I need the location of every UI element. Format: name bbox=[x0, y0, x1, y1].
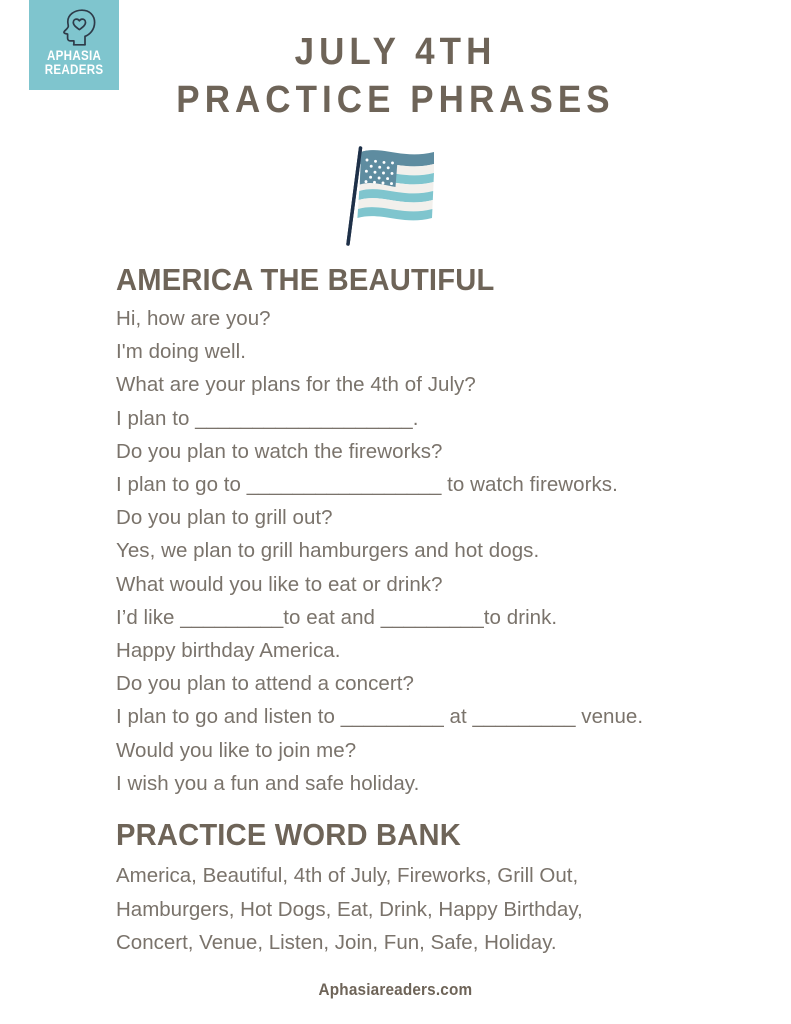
footer: Aphasiareaders.com bbox=[0, 980, 791, 1000]
word-bank-list: America, Beautiful, 4th of July, Firewor… bbox=[116, 859, 756, 960]
phrase-line: I’d like _________to eat and _________to… bbox=[116, 601, 756, 634]
practice-phrase-list: Hi, how are you? I'm doing well. What ar… bbox=[116, 302, 756, 800]
phrase-line: Would you like to join me? bbox=[116, 734, 756, 767]
phrase-line: Happy birthday America. bbox=[116, 634, 756, 667]
worksheet-content: AMERICA THE BEAUTIFUL Hi, how are you? I… bbox=[116, 262, 756, 960]
phrase-line: Do you plan to attend a concert? bbox=[116, 667, 756, 700]
page-title-line-1: JULY 4TH bbox=[32, 28, 760, 76]
phrase-line: I plan to go to _________________ to wat… bbox=[116, 468, 756, 501]
phrase-line: I wish you a fun and safe holiday. bbox=[116, 767, 756, 800]
phrase-line: Do you plan to watch the fireworks? bbox=[116, 435, 756, 468]
american-flag-icon bbox=[330, 140, 450, 250]
phrase-line: I plan to ___________________. bbox=[116, 402, 756, 435]
page-title: JULY 4TH PRACTICE PHRASES bbox=[0, 28, 791, 124]
phrase-line: I plan to go and listen to _________ at … bbox=[116, 700, 756, 733]
footer-website: Aphasiareaders.com bbox=[319, 980, 473, 1000]
phrase-line: Do you plan to grill out? bbox=[116, 501, 756, 534]
phrase-line: What are your plans for the 4th of July? bbox=[116, 368, 756, 401]
phrase-line: What would you like to eat or drink? bbox=[116, 568, 756, 601]
page-title-line-2: PRACTICE PHRASES bbox=[32, 76, 760, 124]
phrase-line: Yes, we plan to grill hamburgers and hot… bbox=[116, 534, 756, 567]
word-bank-line: Hamburgers, Hot Dogs, Eat, Drink, Happy … bbox=[116, 893, 756, 927]
word-bank-line: Concert, Venue, Listen, Join, Fun, Safe,… bbox=[116, 926, 756, 960]
phrase-line: I'm doing well. bbox=[116, 335, 756, 368]
phrase-line: Hi, how are you? bbox=[116, 302, 756, 335]
section-heading-practice-word-bank: PRACTICE WORD BANK bbox=[116, 817, 718, 853]
section-heading-america-the-beautiful: AMERICA THE BEAUTIFUL bbox=[116, 262, 718, 298]
word-bank-line: America, Beautiful, 4th of July, Firewor… bbox=[116, 859, 756, 893]
